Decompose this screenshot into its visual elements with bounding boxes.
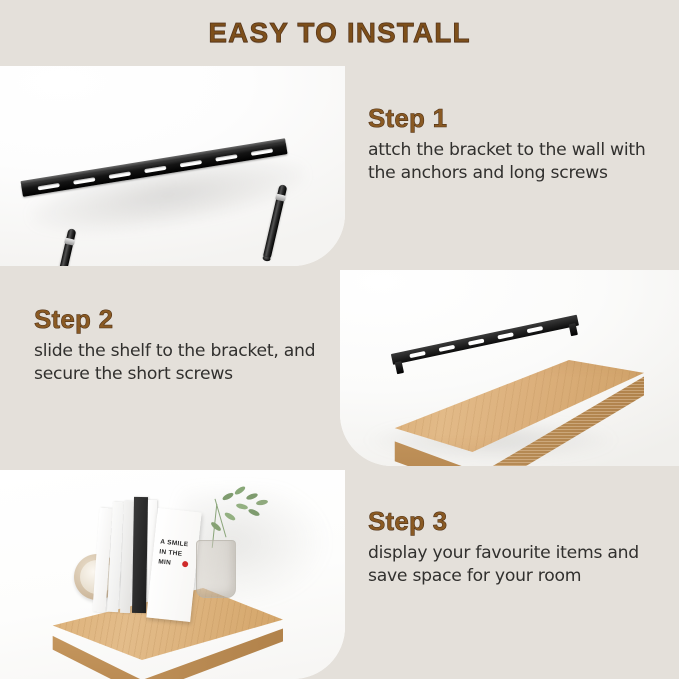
glass-vase (196, 540, 236, 598)
bracket-slot (439, 344, 455, 351)
step-3-text-block: Step 3 display your favourite items and … (368, 507, 670, 588)
bracket-slot (251, 148, 273, 155)
step-2-body: slide the shelf to the bracket, and secu… (34, 340, 334, 386)
bracket-slot (497, 332, 513, 339)
shelf-with-bracket-photo (340, 270, 679, 466)
bracket-slot (409, 350, 425, 357)
bracket-slot (180, 159, 202, 166)
styled-shelf-photo: A SMILE IN THE MIN (0, 470, 345, 679)
book-title-line-3: MIN (158, 558, 171, 566)
step-1-heading: Step 1 (368, 104, 668, 132)
bracket-slot (215, 154, 237, 161)
bracket-slot (109, 171, 131, 178)
bracket-rod-nut (275, 194, 286, 202)
header-banner: EASY TO INSTALL (0, 0, 679, 66)
step-3-image-panel: A SMILE IN THE MIN (0, 470, 345, 679)
bracket-slot (468, 338, 484, 345)
step-1-image-panel (0, 66, 345, 266)
step-2-image-panel (340, 270, 679, 466)
book-spine-dark (132, 497, 148, 613)
step-2-text-block: Step 2 slide the shelf to the bracket, a… (34, 305, 334, 386)
step-2-heading: Step 2 (34, 305, 334, 333)
step-3-heading: Step 3 (368, 507, 670, 535)
step-1-text-block: Step 1 attch the bracket to the wall wit… (368, 104, 668, 185)
step-3-body: display your favourite items and save sp… (368, 542, 670, 588)
bracket-slot (527, 326, 543, 333)
step-1-body: attch the bracket to the wall with the a… (368, 139, 668, 185)
bracket-photo (0, 66, 345, 266)
bracket-rod-nut (64, 238, 75, 246)
book-title-line-1: A SMILE (160, 538, 189, 548)
bracket-end-tab (569, 323, 578, 336)
book-title-line-2: IN THE (159, 548, 183, 557)
infographic-page: EASY TO INSTALL (0, 0, 679, 679)
bracket-slot (37, 182, 59, 189)
book-cover-red-dot (182, 561, 189, 568)
page-title: EASY TO INSTALL (208, 17, 470, 49)
bracket-slot (73, 177, 95, 184)
bracket-slot (144, 165, 166, 172)
